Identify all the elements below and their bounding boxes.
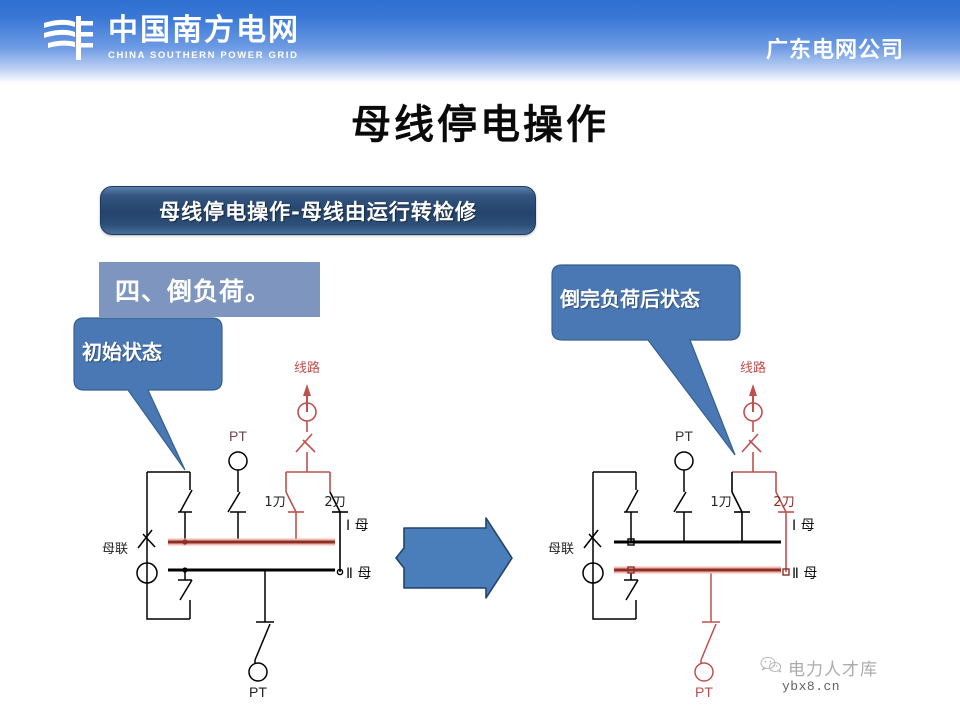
callout-right xyxy=(552,265,740,455)
left-label-knife1: 1刀 xyxy=(264,495,285,510)
right-label-bus-coupler: 母联 xyxy=(548,542,574,557)
left-pt-top-branch xyxy=(228,452,247,542)
left-label-knife2: 2刀 xyxy=(324,495,345,510)
right-label-bus1: Ⅰ 母 xyxy=(792,518,815,534)
right-label-knife2: 2刀 xyxy=(773,495,794,510)
right-label-line: 线路 xyxy=(740,360,766,376)
left-label-bus1: Ⅰ 母 xyxy=(346,518,369,534)
diagram-canvas: 线路 PT 1刀 2刀 母联 Ⅰ 母 Ⅱ 母 PT xyxy=(0,0,960,720)
right-pt-top-branch xyxy=(674,452,693,542)
callout-left xyxy=(74,318,222,470)
watermark-label: 电力人才库 xyxy=(788,655,878,680)
left-pt-bottom-branch xyxy=(249,570,274,681)
left-label-pt-top: PT xyxy=(229,428,247,444)
left-label-pt-bottom: PT xyxy=(249,684,267,700)
right-pt-bottom-branch xyxy=(695,570,720,681)
right-feeder-branch xyxy=(732,384,794,575)
right-label-pt-bottom: PT xyxy=(695,684,713,700)
diagram-right: 线路 PT 1刀 2刀 母联 Ⅰ 母 Ⅱ 母 PT xyxy=(548,360,817,700)
left-feeder-branch xyxy=(286,384,348,575)
transition-arrow-icon xyxy=(396,518,512,598)
right-label-pt-top: PT xyxy=(675,428,693,444)
left-label-bus2: Ⅱ 母 xyxy=(346,566,371,582)
right-label-knife1: 1刀 xyxy=(710,495,731,510)
watermark: 电力人才库 xyxy=(760,655,878,680)
watermark-url: ybx8.cn xyxy=(782,679,840,694)
left-label-line: 线路 xyxy=(294,360,320,376)
left-bus1-node xyxy=(182,539,187,544)
left-bus2-node xyxy=(182,567,187,572)
wechat-icon xyxy=(760,656,782,679)
right-label-bus2: Ⅱ 母 xyxy=(792,566,817,582)
left-label-bus-coupler: 母联 xyxy=(102,542,128,557)
